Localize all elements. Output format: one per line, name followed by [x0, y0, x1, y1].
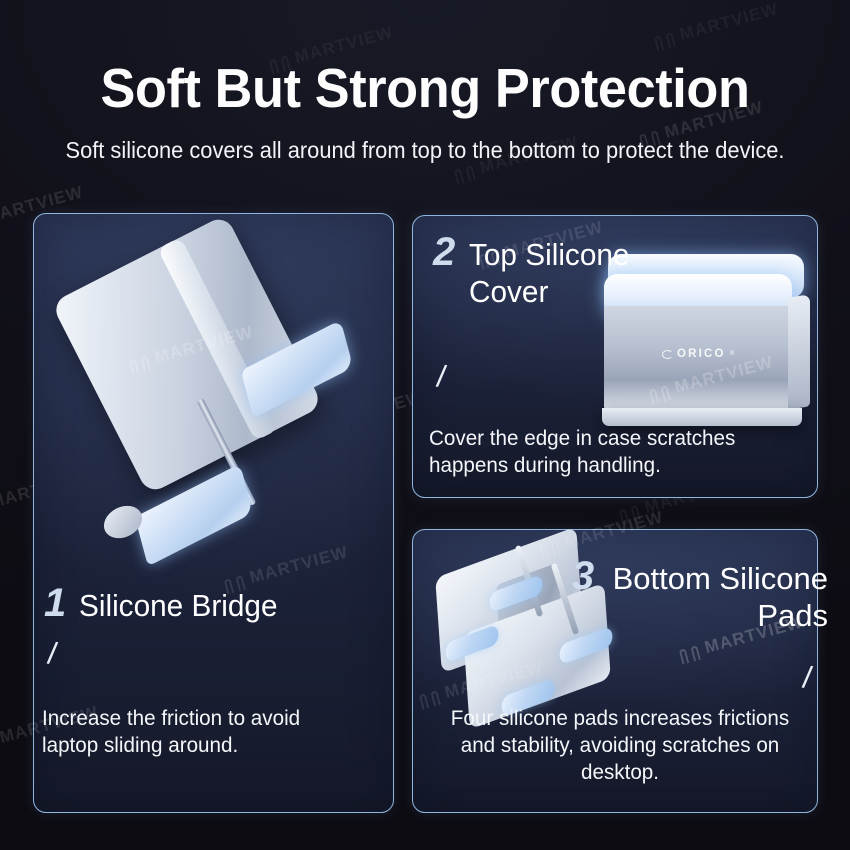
watermark-label: MARTVIEW	[678, 0, 781, 45]
martview-logo-icon	[653, 28, 676, 51]
panel-3-heading: 3 Bottom Silicone Pads	[538, 556, 828, 634]
panel-2-number: 2	[433, 232, 455, 272]
panel-1-heading: 1 Silicone Bridge	[44, 583, 286, 625]
infographic-canvas: MARTVIEW MARTVIEW MARTVIEW MARTVIEW MART…	[0, 0, 850, 850]
panel-3-title: Bottom Silicone Pads	[613, 561, 828, 633]
panel-2-title: Top Silicone Cover	[469, 237, 674, 310]
page-subtitle: Soft silicone covers all around from top…	[21, 135, 829, 166]
martview-logo-icon	[618, 501, 641, 524]
panel-1-title: Silicone Bridge	[79, 588, 278, 625]
watermark: MARTVIEW	[652, 0, 780, 52]
page-title: Soft But Strong Protection	[21, 60, 829, 118]
panel-1-description: Increase the friction to avoid laptop sl…	[42, 705, 330, 759]
panel-1-number: 1	[44, 583, 66, 623]
panel-3-description: Four silicone pads increases frictions a…	[440, 705, 801, 786]
panel-2-heading: 2 Top Silicone Cover	[433, 232, 683, 310]
panel-2-description: Cover the edge in case scratches happens…	[429, 425, 792, 479]
header: Soft But Strong Protection Soft silicone…	[0, 60, 850, 166]
panel-3-number: 3	[572, 556, 594, 596]
